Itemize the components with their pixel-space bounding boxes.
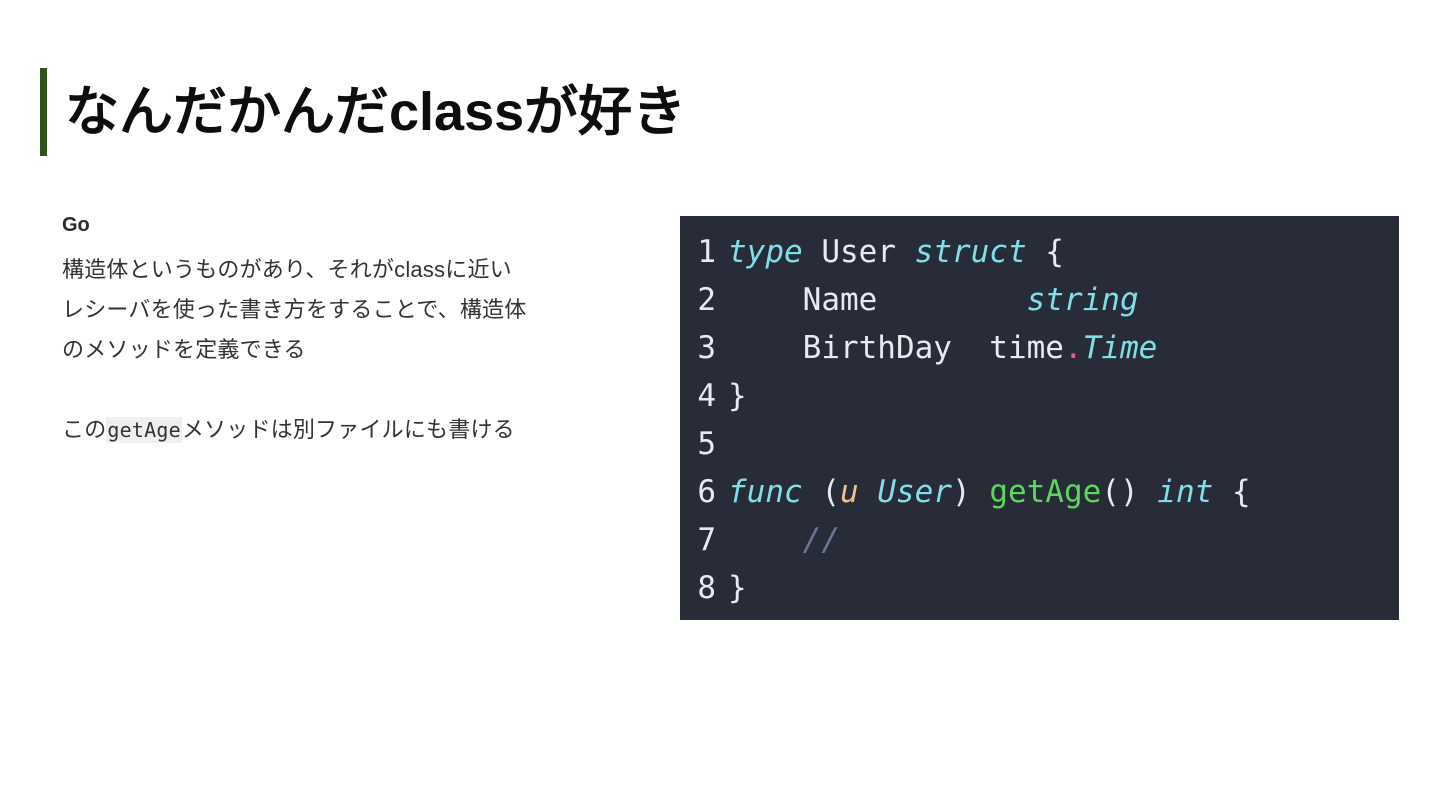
code-token-comment: // — [803, 522, 840, 558]
code-line: 3 BirthDay time.Time — [680, 330, 1399, 378]
code-token-func: getAge — [989, 474, 1101, 510]
code-token-plain: () — [1101, 474, 1157, 510]
code-line-content: Name string — [728, 282, 1139, 318]
code-token-plain — [728, 522, 803, 558]
code-line: 4} — [680, 378, 1399, 426]
code-token-kw: type — [728, 234, 803, 270]
code-token-param: u — [840, 474, 859, 510]
code-token-dot: . — [1064, 330, 1083, 366]
description-line: 構造体というものがあり、それがclassに近い — [62, 250, 662, 290]
code-token-plain: { — [1213, 474, 1250, 510]
code-line-content: type User struct { — [728, 234, 1064, 270]
code-line: 2 Name string — [680, 282, 1399, 330]
code-token-type: User — [877, 474, 952, 510]
note-prefix-text: この — [62, 417, 106, 442]
code-token-plain: BirthDay time — [728, 330, 1064, 366]
code-token-type: Time — [1083, 330, 1158, 366]
code-token-plain: { — [1027, 234, 1064, 270]
code-token-plain — [896, 234, 915, 270]
code-token-plain: User — [821, 234, 896, 270]
language-label: Go — [62, 210, 662, 240]
description-line: レシーバを使った書き方をすることで、構造体 — [62, 290, 662, 330]
code-line-number: 5 — [680, 426, 728, 462]
code-token-plain — [859, 474, 878, 510]
code-token-type: string — [1027, 282, 1139, 318]
description-line: のメソッドを定義できる — [62, 330, 662, 370]
code-line-number: 4 — [680, 378, 728, 414]
code-line: 5 — [680, 426, 1399, 474]
code-line-content: // — [728, 522, 840, 558]
code-line-number: 7 — [680, 522, 728, 558]
code-line-number: 2 — [680, 282, 728, 318]
note-paragraph: このgetAgeメソッドは別ファイルにも書ける — [62, 410, 662, 450]
description-paragraph: 構造体というものがあり、それがclassに近い レシーバを使った書き方をすること… — [62, 250, 662, 370]
code-line-number: 6 — [680, 474, 728, 510]
code-line-number: 8 — [680, 570, 728, 606]
code-block: 1type User struct {2 Name string3 BirthD… — [680, 216, 1399, 620]
left-content-column: Go 構造体というものがあり、それがclassに近い レシーバを使った書き方をす… — [62, 210, 662, 450]
code-token-plain: Name — [728, 282, 1027, 318]
code-line-content: } — [728, 378, 747, 414]
title-accent-bar — [40, 68, 47, 156]
code-line: 8} — [680, 570, 1399, 618]
slide-title-block: なんだかんだclassが好き — [40, 68, 686, 156]
code-token-kw: int — [1157, 474, 1213, 510]
code-token-plain — [803, 234, 822, 270]
code-line-content: func (u User) getAge() int { — [728, 474, 1251, 510]
code-line-number: 3 — [680, 330, 728, 366]
code-line: 7 // — [680, 522, 1399, 570]
note-suffix-text: メソッドは別ファイルにも書ける — [182, 417, 515, 442]
code-token-kw: struct — [915, 234, 1027, 270]
code-line-number: 1 — [680, 234, 728, 270]
code-line: 1type User struct { — [680, 234, 1399, 282]
inline-code-getage: getAge — [106, 417, 181, 443]
code-token-plain: } — [728, 570, 747, 606]
code-token-plain: } — [728, 378, 747, 414]
page-title: なんだかんだclassが好き — [47, 68, 686, 156]
code-line-content: } — [728, 570, 747, 606]
code-token-kw: func — [728, 474, 803, 510]
code-token-plain: ( — [803, 474, 840, 510]
code-line-content: BirthDay time.Time — [728, 330, 1157, 366]
code-line: 6func (u User) getAge() int { — [680, 474, 1399, 522]
code-token-plain: ) — [952, 474, 989, 510]
